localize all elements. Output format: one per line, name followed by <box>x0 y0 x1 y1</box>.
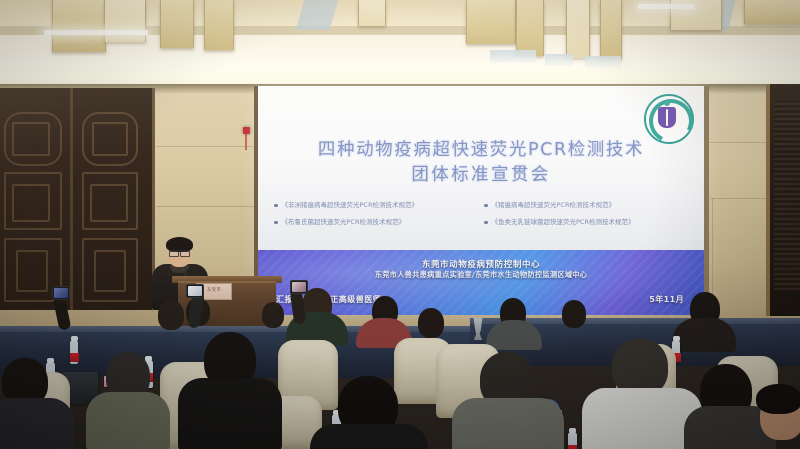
screen-right-edge <box>704 86 709 315</box>
cdc-emblem-logo <box>644 94 690 140</box>
door-carving <box>94 250 126 292</box>
attendee-head <box>158 300 184 330</box>
door-carving <box>16 250 48 292</box>
phone-screen <box>188 286 202 296</box>
wall-panel-seam <box>706 142 768 143</box>
slide-title: 四种动物疫病超快速荧光PCR检测技术 团体标准宣贯会 <box>258 138 704 188</box>
bullet-dot-icon <box>484 221 488 225</box>
attendee-body <box>310 424 428 449</box>
fire-alarm-icon <box>243 127 250 134</box>
bullet-dot-icon <box>484 204 488 208</box>
smartphone[interactable] <box>52 286 70 300</box>
slide-bullet-item: 《鱼类无乳链球菌超快速荧光PCR检测技术规范》 <box>484 218 688 227</box>
door-carving <box>12 122 50 156</box>
ceiling-pendant-panel <box>52 0 106 52</box>
wall-panel-seam <box>710 198 768 199</box>
attendee-head <box>418 308 444 338</box>
logo-dot-icon <box>664 100 670 106</box>
ceiling-pendant-panel <box>104 0 146 42</box>
slide-title-line-2: 团体标准宣贯会 <box>258 163 704 188</box>
ceiling-pendant-panel <box>600 0 622 60</box>
door-carving <box>12 184 50 222</box>
slide-white-area: 四种动物疫病超快速荧光PCR检测技术 团体标准宣贯会 《非洲猪瘟病毒超快速荧光P… <box>258 86 704 250</box>
water-bottle[interactable] <box>70 340 78 364</box>
banner-laboratory: 东莞市人兽共患病重点实验室/东莞市水生动物防控监测区域中心 <box>258 270 704 280</box>
bottle-cap <box>673 336 680 341</box>
ceiling-light <box>44 30 148 35</box>
bottle-label <box>568 445 577 449</box>
ceiling-pendant-panel <box>466 0 516 44</box>
projection-screen: 四种动物疫病超快速荧光PCR检测技术 团体标准宣贯会 《非洲猪瘟病毒超快速荧光P… <box>258 86 704 315</box>
slide-bullet-list: 《非洲猪瘟病毒超快速荧光PCR检测技术规范》 《猪瘟病毒超快速荧光PCR检测技术… <box>274 201 688 227</box>
bullet-text: 《非洲猪瘟病毒超快速荧光PCR检测技术规范》 <box>282 201 418 210</box>
banner-date: 5年11月 <box>649 294 684 305</box>
bottle-cap <box>71 336 78 341</box>
ceiling-light <box>638 4 694 9</box>
smartphone[interactable] <box>290 280 308 294</box>
bottle-cap <box>145 356 152 361</box>
slide-bullet-item: 《猪瘟病毒超快速荧光PCR检测技术规范》 <box>484 201 688 210</box>
bottle-cap <box>47 358 54 363</box>
conference-room-photo: 四种动物疫病超快速荧光PCR检测技术 团体标准宣贯会 《非洲猪瘟病毒超快速荧光P… <box>0 0 800 449</box>
attendee-head <box>262 302 284 328</box>
louvre-panel <box>774 100 800 290</box>
water-bottle[interactable] <box>568 432 577 449</box>
wall-panel-seam <box>156 206 260 207</box>
phone-screen <box>292 282 306 292</box>
attendee-body <box>672 318 736 352</box>
bullet-dot-icon <box>274 204 278 208</box>
phone-screen <box>54 288 68 298</box>
bottle-label <box>70 353 79 362</box>
ceiling-pendant-panel <box>358 0 386 26</box>
door-carving <box>90 184 128 222</box>
carved-wooden-door[interactable] <box>0 88 155 310</box>
smartphone[interactable] <box>186 284 204 298</box>
attendee-head <box>562 300 586 328</box>
ceiling-pendant-panel <box>160 0 194 48</box>
bullet-text: 《猪瘟病毒超快速荧光PCR检测技术规范》 <box>492 201 615 210</box>
attendee-hair <box>756 384 800 414</box>
attendee-body <box>86 392 170 449</box>
fire-alarm-stem <box>245 134 247 150</box>
logo-caduceus-icon <box>666 109 668 126</box>
ceiling-pendant-panel <box>516 0 544 56</box>
bullet-text: 《布鲁氏菌超快速荧光PCR检测技术规范》 <box>282 218 405 227</box>
bullet-dot-icon <box>274 221 278 225</box>
ceiling-pendant-panel <box>744 0 800 24</box>
door-carving <box>92 122 128 156</box>
banner-organization: 东莞市动物疫病预防控制中心 <box>258 258 704 270</box>
slide-bullet-item: 《非洲猪瘟病毒超快速荧光PCR检测技术规范》 <box>274 201 478 210</box>
attendee-body <box>0 398 74 449</box>
slide-bullet-item: 《布鲁氏菌超快速荧光PCR检测技术规范》 <box>274 218 478 227</box>
attendee-body <box>178 378 282 449</box>
attendee-body <box>452 398 564 449</box>
ceiling-pendant-panel <box>566 0 590 58</box>
bottle-cap <box>569 428 576 433</box>
speaker-glasses-icon <box>169 250 190 255</box>
bullet-text: 《鱼类无乳链球菌超快速荧光PCR检测技术规范》 <box>492 218 635 227</box>
ceiling-pendant-panel <box>204 0 234 50</box>
slide-title-line-1: 四种动物疫病超快速荧光PCR检测技术 <box>258 138 704 163</box>
